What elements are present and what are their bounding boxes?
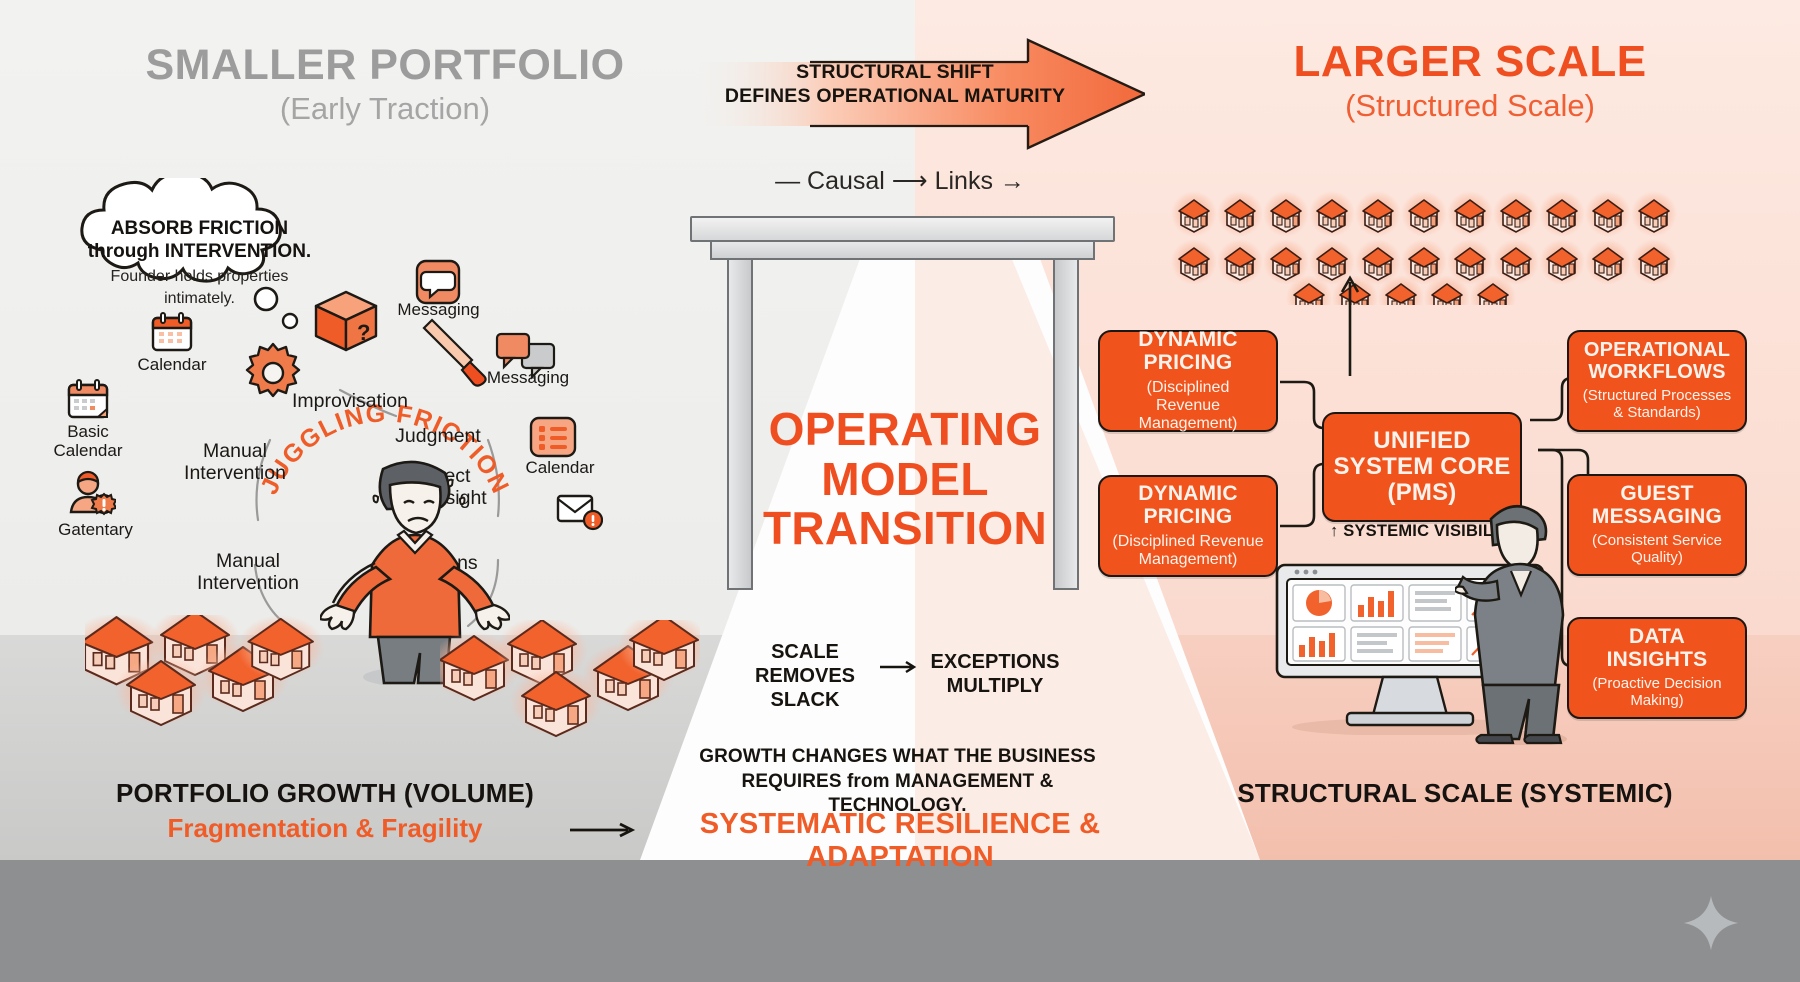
- operational-workflows-box[interactable]: OPERATIONAL WORKFLOWS (Structured Proces…: [1567, 330, 1747, 432]
- footer-center: SYSTEMATIC RESILIENCE & ADAPTATION: [610, 808, 1190, 874]
- houses-cluster-left-b: [440, 620, 700, 755]
- footer-left-line2: Fragmentation & Fragility: [85, 813, 565, 844]
- causal-links-label: — Causal ⟶ Links →: [700, 166, 1100, 196]
- guest-messaging-box[interactable]: GUEST MESSAGING (Consistent Service Qual…: [1567, 474, 1747, 576]
- growth-note-line1: GROWTH CHANGES WHAT THE BUSINESS: [690, 745, 1105, 770]
- gm-subtitle: (Consistent Service Quality): [1592, 533, 1722, 567]
- sparkle-icon: [1680, 892, 1742, 954]
- basic-calendar-icon: [64, 375, 112, 423]
- gatentary-label: Gatentary: [38, 520, 153, 539]
- judgment-label: Judgment: [378, 425, 498, 447]
- dynamic-pricing-box-1[interactable]: DYNAMIC PRICING (Disciplined Revenue Man…: [1098, 330, 1278, 432]
- operating-model-transition-title: OPERATING MODEL TRANSITION: [735, 405, 1075, 554]
- dp1-title: DYNAMIC PRICING: [1138, 329, 1237, 374]
- improvisation-label: Improvisation: [270, 390, 430, 412]
- gm-title: GUEST MESSAGING: [1592, 483, 1722, 528]
- dynamic-pricing-box-2[interactable]: DYNAMIC PRICING (Disciplined Revenue Man…: [1098, 475, 1278, 577]
- houses-cluster-left-a: [85, 615, 385, 755]
- omt-line3: TRANSITION: [735, 504, 1075, 554]
- footer-left: PORTFOLIO GROWTH (VOLUME) Fragmentation …: [85, 778, 565, 844]
- arrow-label-line2: DEFINES OPERATIONAL MATURITY: [700, 84, 1090, 108]
- infographic-canvas: SMALLER PORTFOLIO (Early Traction) LARGE…: [0, 0, 1800, 982]
- messaging-icon: [414, 258, 462, 306]
- exceptions-multiply-label: EXCEPTIONS MULTIPLY: [920, 650, 1070, 698]
- omt-line1: OPERATING: [735, 405, 1075, 455]
- di-subtitle: (Proactive Decision Making): [1592, 676, 1721, 710]
- right-header-subtitle: (Structured Scale): [1190, 87, 1750, 126]
- left-header: SMALLER PORTFOLIO (Early Traction): [95, 44, 675, 129]
- arrow-label: STRUCTURAL SHIFT DEFINES OPERATIONAL MAT…: [700, 60, 1090, 108]
- bubble-line4: intimately.: [82, 289, 317, 308]
- bubble-line2: through INTERVENTION.: [82, 241, 317, 264]
- ow-subtitle: (Structured Processes & Standards): [1583, 388, 1731, 422]
- ow-title: OPERATIONAL WORKFLOWS: [1584, 340, 1730, 383]
- arrow-label-line1: STRUCTURAL SHIFT: [700, 60, 1090, 84]
- manual-intervention-lower-label: Manual Intervention: [182, 550, 314, 595]
- dp2-title: DYNAMIC PRICING: [1138, 483, 1237, 528]
- bubble-line3: Founder holds properties: [82, 267, 317, 286]
- dp2-subtitle: (Disciplined Revenue Management): [1112, 533, 1263, 569]
- footer-right: STRUCTURAL SCALE (SYSTEMIC): [1215, 778, 1695, 809]
- center-arrow-icon: [880, 660, 922, 674]
- upward-arrow-icon: [1330, 268, 1370, 378]
- manual-intervention-upper-label: Manual Intervention: [170, 440, 300, 485]
- left-header-subtitle: (Early Traction): [95, 90, 675, 129]
- door-lintel-top: [690, 216, 1115, 242]
- bottom-bar: [0, 860, 1800, 982]
- data-insights-box[interactable]: DATA INSIGHTS (Proactive Decision Making…: [1567, 617, 1747, 719]
- gatentary-icon: [66, 470, 116, 518]
- right-header: LARGER SCALE (Structured Scale): [1190, 40, 1750, 126]
- right-header-title: LARGER SCALE: [1190, 40, 1750, 85]
- left-header-title: SMALLER PORTFOLIO: [95, 44, 675, 88]
- omt-line2: MODEL: [735, 455, 1075, 505]
- bubble-line1: ABSORB FRICTION: [82, 218, 317, 241]
- manager-character: [1455, 495, 1585, 745]
- di-title: DATA INSIGHTS: [1607, 626, 1708, 671]
- basic-calendar-label: Basic Calendar: [38, 422, 138, 461]
- footer-left-line1: PORTFOLIO GROWTH (VOLUME): [85, 778, 565, 809]
- door-lintel-lower: [710, 242, 1095, 260]
- houses-grid-right: [1170, 190, 1700, 305]
- thought-bubble-text: ABSORB FRICTION through INTERVENTION. Fo…: [82, 218, 317, 308]
- scale-removes-slack-label: SCALE REMOVES SLACK: [740, 640, 870, 712]
- dp1-subtitle: (Disciplined Revenue Management): [1108, 379, 1268, 433]
